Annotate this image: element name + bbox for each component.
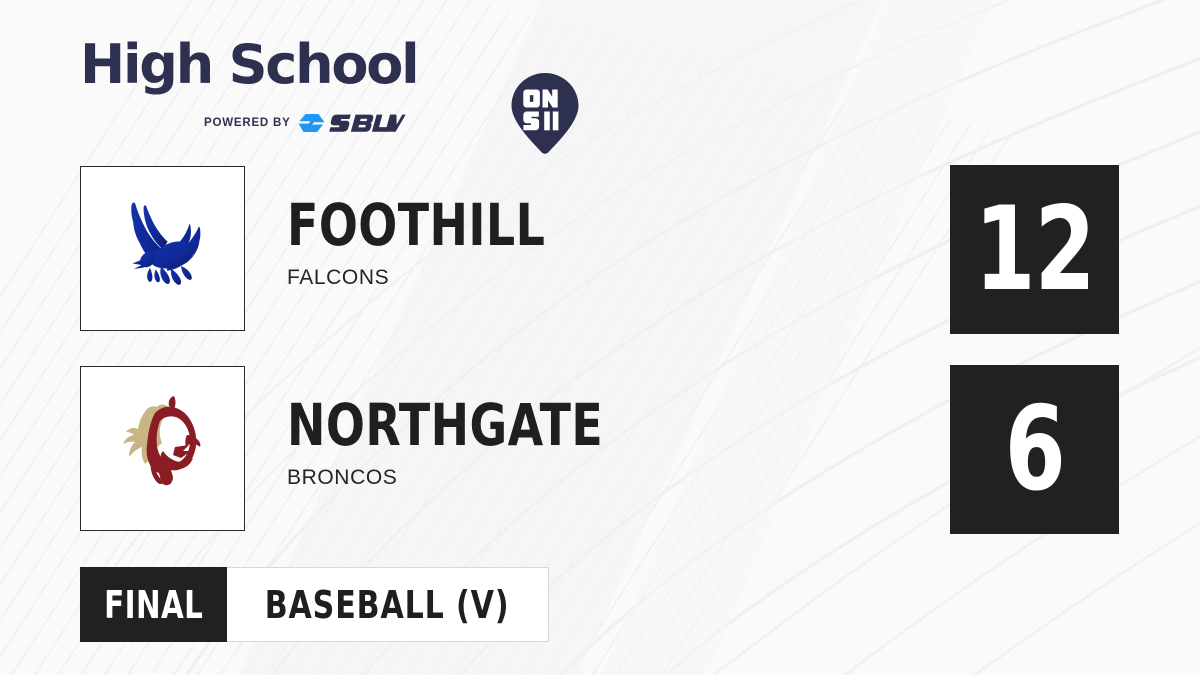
team-text-block: NORTHGATE BRONCOS: [287, 396, 987, 490]
sport-badge: BASEBALL (V): [227, 567, 549, 642]
score-box: 12: [950, 165, 1119, 334]
brand-logo: High School POWERED BY: [80, 36, 520, 132]
team-logo-tile: [80, 166, 245, 331]
scoreboard-graphic: High School POWERED BY: [0, 0, 1200, 675]
status-bar: FINAL BASEBALL (V): [80, 567, 549, 642]
sblive-logo: [298, 112, 406, 134]
bronco-logo: [103, 389, 223, 509]
team-name: FOOTHILL: [287, 196, 903, 254]
team-row: FOOTHILL FALCONS: [80, 166, 980, 334]
team-text-block: FOOTHILL FALCONS: [287, 196, 987, 290]
on-si-pin-icon: [508, 72, 582, 154]
game-status-label: FINAL: [104, 586, 203, 624]
team-logo-tile: [80, 366, 245, 531]
score-box: 6: [950, 365, 1119, 534]
game-status-badge: FINAL: [80, 567, 227, 642]
team-name: NORTHGATE: [287, 396, 903, 454]
team-mascot: BRONCOS: [287, 466, 987, 490]
score-value: 6: [1004, 392, 1064, 508]
team-row: NORTHGATE BRONCOS: [80, 366, 980, 534]
powered-by-block: POWERED BY: [204, 112, 406, 134]
team-mascot: FALCONS: [287, 266, 987, 290]
sport-label: BASEBALL (V): [265, 586, 510, 624]
score-value: 12: [974, 192, 1094, 308]
powered-by-label: POWERED BY: [204, 117, 291, 129]
brand-wordmark: High School: [80, 36, 417, 94]
falcon-logo: [103, 189, 223, 309]
